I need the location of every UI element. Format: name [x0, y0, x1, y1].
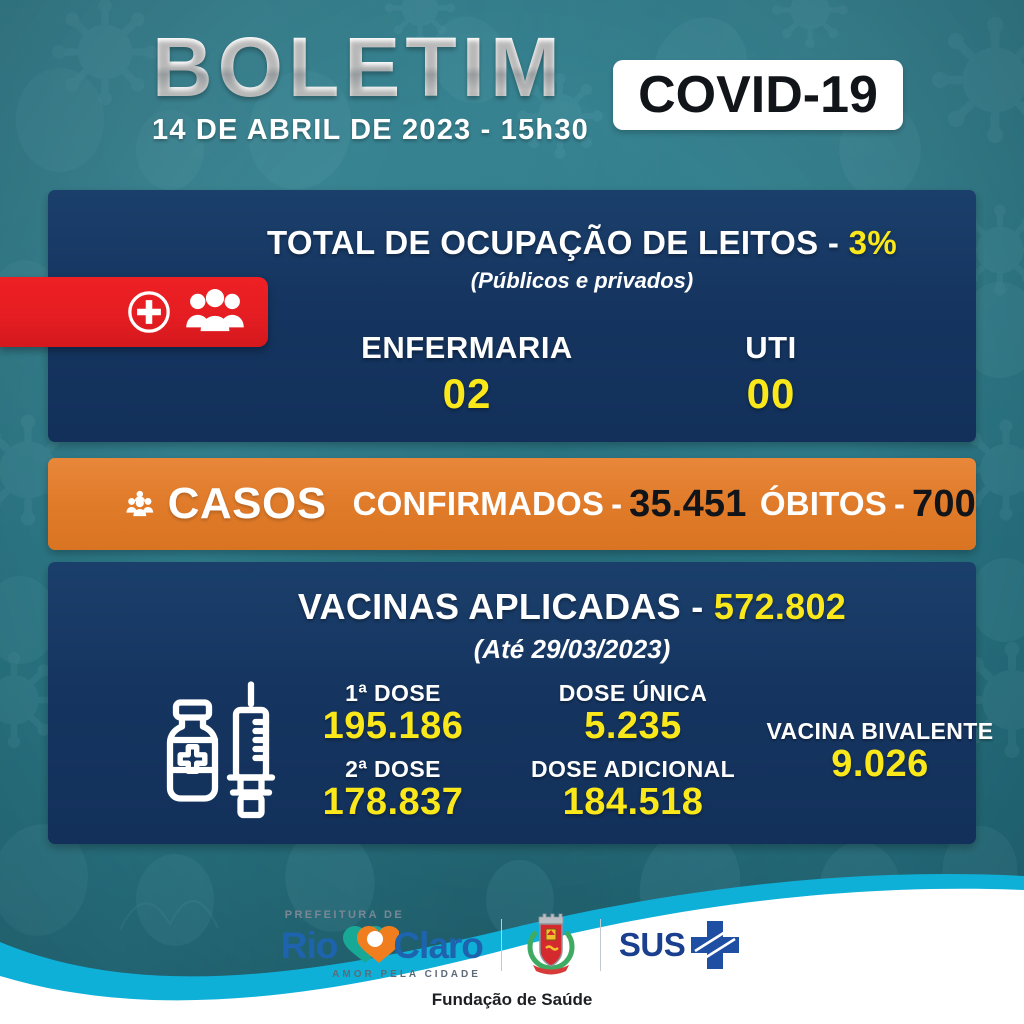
- page-title: BOLETIM: [152, 28, 589, 108]
- enfermaria-value: 02: [330, 370, 604, 418]
- sus-cross-icon: [687, 917, 743, 973]
- vaccines-subtitle: (Até 29/03/2023): [48, 634, 976, 665]
- vaccines-title: VACINAS APLICADAS - 572.802: [48, 586, 976, 628]
- vaccine-dose-2: 2ª DOSE 178.837: [298, 756, 488, 823]
- bivalente-value: 9.026: [750, 745, 1010, 785]
- title-block: BOLETIM 14 DE ABRIL DE 2023 - 15h30: [152, 28, 589, 147]
- vaccine-bivalente: VACINA BIVALENTE 9.026: [750, 718, 1010, 785]
- dose-unica-label: DOSE ÚNICA: [513, 680, 753, 707]
- footer-divider-2: [600, 919, 601, 971]
- dose-adicional-value: 184.518: [513, 783, 753, 823]
- covid-badge: COVID-19: [613, 60, 903, 130]
- vaccines-doses-grid: 1ª DOSE 195.186 2ª DOSE 178.837 DOSE ÚNI…: [298, 680, 1008, 830]
- covid-bulletin-poster: BOLETIM 14 DE ABRIL DE 2023 - 15h30 COVI…: [0, 0, 1024, 1024]
- rio-claro-logo: PREFEITURA DE Rio Claro AMOR PELA CIDADE: [281, 910, 483, 980]
- people-group-icon: [184, 289, 246, 335]
- beds-column-enfermaria: ENFERMARIA 02: [330, 330, 604, 418]
- beds-title: TOTAL DE OCUPAÇÃO DE LEITOS - 3%: [48, 224, 976, 262]
- dose-1-value: 195.186: [298, 707, 488, 747]
- sus-label: SUS: [619, 926, 685, 964]
- vaccines-total-value: 572.802: [714, 586, 846, 627]
- people-group-icon: [126, 477, 154, 531]
- footer-content: PREFEITURA DE Rio Claro AMOR PELA CIDADE: [0, 909, 1024, 1010]
- medical-cross-circle-icon: [126, 289, 172, 335]
- rio-claro-word-rio: Rio: [281, 927, 338, 964]
- heart-pin-icon: [337, 922, 399, 968]
- cases-confirmed-label: CONFIRMADOS: [353, 485, 605, 523]
- uti-value: 00: [634, 370, 908, 418]
- cases-word: CASOS: [168, 479, 327, 529]
- beds-icon-tab: [0, 277, 268, 347]
- uti-label: UTI: [634, 330, 908, 366]
- enfermaria-label: ENFERMARIA: [330, 330, 604, 366]
- vaccine-dose-1: 1ª DOSE 195.186: [298, 680, 488, 747]
- dose-1-label: 1ª DOSE: [298, 680, 488, 707]
- vaccine-dose-unica: DOSE ÚNICA 5.235: [513, 680, 753, 747]
- footer-logos: PREFEITURA DE Rio Claro AMOR PELA CIDADE: [281, 909, 744, 981]
- sus-logo: SUS: [619, 917, 743, 973]
- cases-panel: CASOS CONFIRMADOS - 35.451 ÓBITOS - 700: [48, 458, 976, 550]
- dose-adicional-label: DOSE ADICIONAL: [513, 756, 753, 783]
- cases-dash-1: -: [604, 485, 629, 523]
- prefeitura-kicker: PREFEITURA DE: [285, 910, 404, 921]
- rio-claro-wordmark: Rio Claro: [281, 922, 483, 968]
- dose-2-value: 178.837: [298, 783, 488, 823]
- dose-unica-value: 5.235: [513, 707, 753, 747]
- dose-2-label: 2ª DOSE: [298, 756, 488, 783]
- cases-deaths-value: 700: [912, 483, 976, 526]
- bulletin-date: 14 DE ABRIL DE 2023 - 15h30: [152, 114, 589, 147]
- footer-divider-1: [501, 919, 502, 971]
- cases-confirmed-value: 35.451: [629, 483, 746, 526]
- vaccine-vial-syringe-icon: [158, 680, 308, 830]
- cases-dash-2: -: [887, 485, 912, 523]
- poster-header: BOLETIM 14 DE ABRIL DE 2023 - 15h30 COVI…: [0, 22, 1024, 172]
- rio-claro-tagline: AMOR PELA CIDADE: [332, 970, 481, 980]
- vaccines-panel: VACINAS APLICADAS - 572.802 (Até 29/03/2…: [48, 562, 976, 844]
- vaccine-dose-adicional: DOSE ADICIONAL 184.518: [513, 756, 753, 823]
- rio-claro-coat-of-arms-icon: [520, 913, 582, 977]
- beds-columns: ENFERMARIA 02 UTI 00: [348, 330, 908, 418]
- beds-occupancy-percent: 3%: [849, 224, 897, 261]
- covid-badge-label: COVID-19: [638, 65, 878, 125]
- vaccines-title-text: VACINAS APLICADAS -: [298, 586, 714, 627]
- beds-column-uti: UTI 00: [634, 330, 908, 418]
- bivalente-label: VACINA BIVALENTE: [750, 718, 1010, 745]
- beds-title-text: TOTAL DE OCUPAÇÃO DE LEITOS -: [267, 224, 849, 261]
- footer-caption: Fundação de Saúde: [432, 990, 593, 1010]
- cases-deaths-label: ÓBITOS: [760, 485, 887, 523]
- rio-claro-word-claro: Claro: [393, 927, 483, 964]
